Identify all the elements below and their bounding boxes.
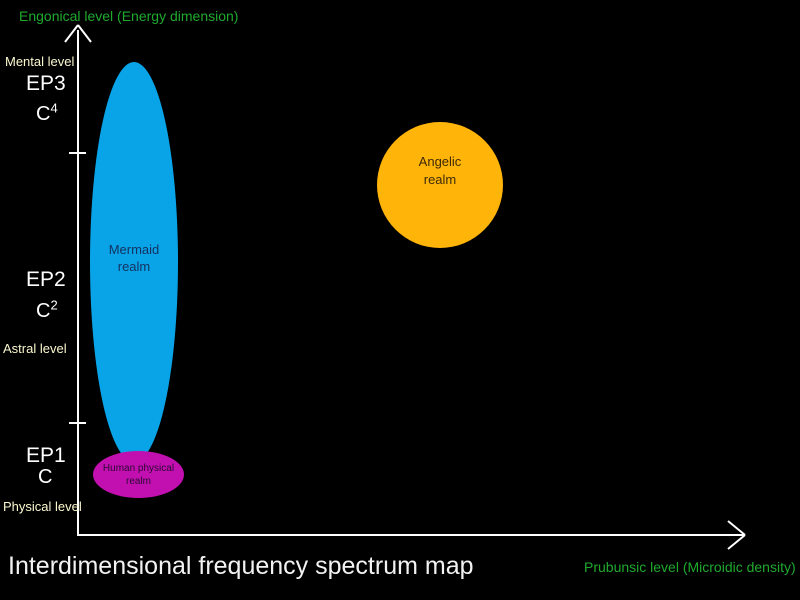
realm-shape-angelic[interactable]: Angelic realm <box>377 122 503 248</box>
y-axis-notation-c2: C2 <box>36 300 58 323</box>
y-axis-band-label-physical: Physical level <box>3 499 82 514</box>
y-axis-notation-c1-base: C <box>38 466 52 488</box>
x-axis-caption: Prubunsic level (Microidic density) <box>584 559 796 575</box>
y-axis-caption: Engonical level (Energy dimension) <box>19 8 238 24</box>
y-axis-tick-lower <box>69 422 86 424</box>
realm-shape-human-physical[interactable]: Human physical realm <box>93 451 184 498</box>
y-axis-notation-c2-exponent: 2 <box>50 297 57 312</box>
x-axis-arrow-icon <box>718 518 748 552</box>
realm-label-mermaid: Mermaid realm <box>109 241 160 275</box>
realm-shape-mermaid[interactable]: Mermaid realm <box>90 62 178 462</box>
spectrum-map-canvas: Engonical level (Energy dimension) Prubu… <box>0 0 800 600</box>
y-axis-tier-label-ep1: EP1 <box>26 444 66 468</box>
y-axis-band-label-astral: Astral level <box>3 341 67 356</box>
y-axis-line <box>77 30 79 535</box>
y-axis-notation-c4-exponent: 4 <box>50 100 57 115</box>
x-axis-line <box>77 534 745 536</box>
realm-label-angelic: Angelic realm <box>419 153 462 189</box>
y-axis-notation-c4: C4 <box>36 103 58 126</box>
y-axis-tier-label-ep3: EP3 <box>26 72 66 96</box>
y-axis-notation-c1: C <box>38 466 52 489</box>
y-axis-tier-label-ep2: EP2 <box>26 268 66 292</box>
y-axis-notation-c4-base: C <box>36 103 50 125</box>
realm-label-human-physical: Human physical realm <box>103 462 174 488</box>
y-axis-arrow-icon <box>62 24 94 46</box>
map-title: Interdimensional frequency spectrum map <box>8 551 474 581</box>
y-axis-band-label-mental: Mental level <box>5 54 74 69</box>
y-axis-tick-upper <box>69 152 86 154</box>
y-axis-notation-c2-base: C <box>36 300 50 322</box>
